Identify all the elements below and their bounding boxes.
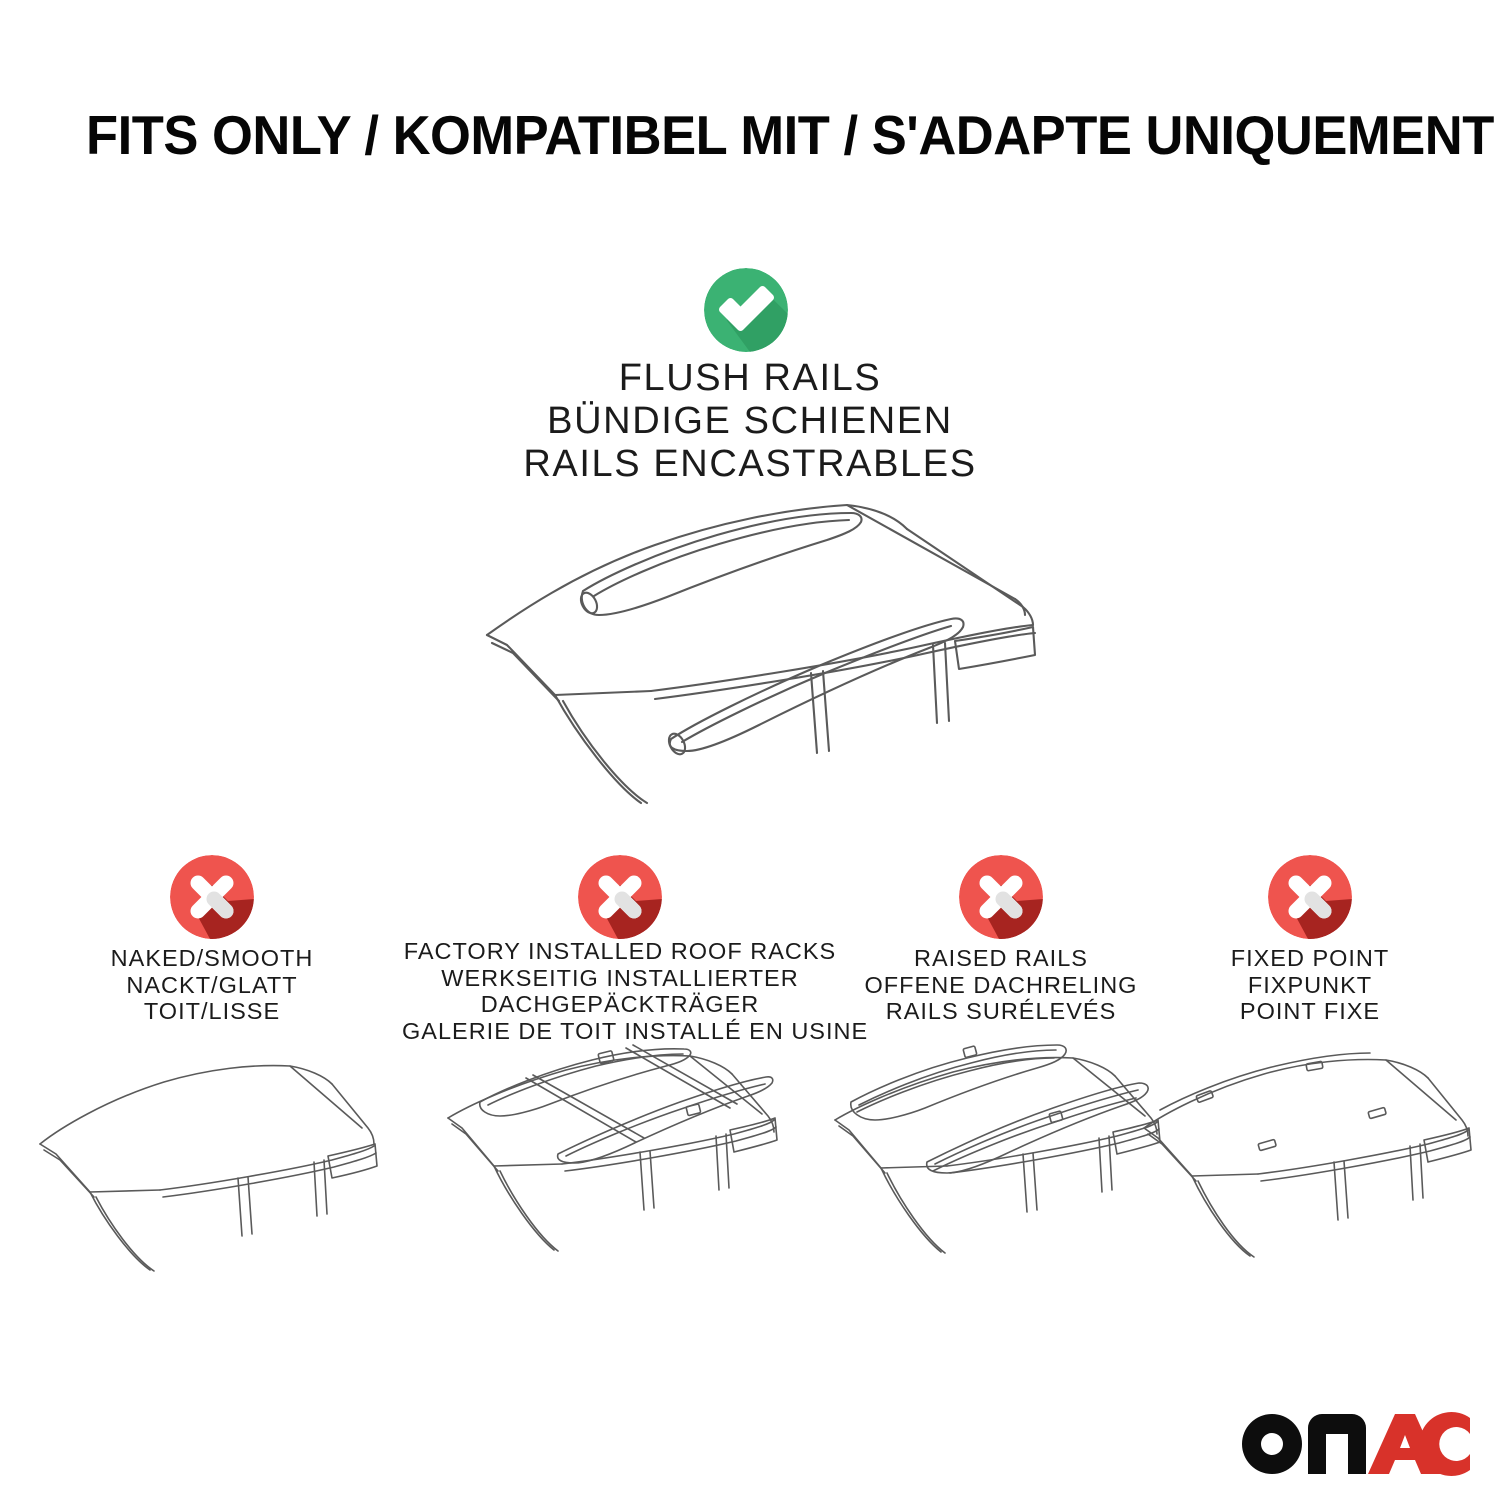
car-roof-fixed-point-illustration xyxy=(1130,1058,1490,1273)
caption-line: GALERIE DE TOIT INSTALLÉ EN USINE xyxy=(402,1018,838,1045)
logo-letter-o xyxy=(1242,1414,1302,1474)
option-caption: FIXED POINT FIXPUNKT POINT FIXE xyxy=(1175,945,1445,1025)
caption-line: FIXPUNKT xyxy=(1175,972,1445,999)
car-roof-naked-smooth-illustration xyxy=(32,1058,392,1273)
car-roof-factory-roof-racks-illustration xyxy=(440,1058,800,1273)
caption-line: FACTORY INSTALLED ROOF RACKS xyxy=(402,938,838,965)
option-caption: RAISED RAILS OFFENE DACHRELING RAILS SUR… xyxy=(845,945,1157,1025)
caption-line: NACKT/GLATT xyxy=(52,972,372,999)
car-roof-raised-rails-illustration xyxy=(821,1058,1181,1273)
not-compatible-section: NAKED/SMOOTH NACKT/GLATT TOIT/LISSE xyxy=(0,0,1500,1500)
caption-line: OFFENE DACHRELING xyxy=(845,972,1157,999)
x-circle-icon xyxy=(1268,855,1352,939)
caption-line: TOIT/LISSE xyxy=(52,998,372,1025)
option-caption: FACTORY INSTALLED ROOF RACKS WERKSEITIG … xyxy=(402,938,838,1044)
caption-line: RAISED RAILS xyxy=(845,945,1157,972)
caption-line: WERKSEITIG INSTALLIERTER xyxy=(402,965,838,992)
logo-letter-m xyxy=(1308,1414,1366,1474)
caption-line: FIXED POINT xyxy=(1175,945,1445,972)
x-circle-icon xyxy=(170,855,254,939)
option-caption: NAKED/SMOOTH NACKT/GLATT TOIT/LISSE xyxy=(52,945,372,1025)
x-circle-icon xyxy=(959,855,1043,939)
caption-line: POINT FIXE xyxy=(1175,998,1445,1025)
caption-line: DACHGEPÄCKTRÄGER xyxy=(402,991,838,1018)
caption-line: RAILS SURÉLEVÉS xyxy=(845,998,1157,1025)
omac-logo xyxy=(1238,1410,1474,1480)
caption-line: NAKED/SMOOTH xyxy=(52,945,372,972)
x-circle-icon xyxy=(578,855,662,939)
